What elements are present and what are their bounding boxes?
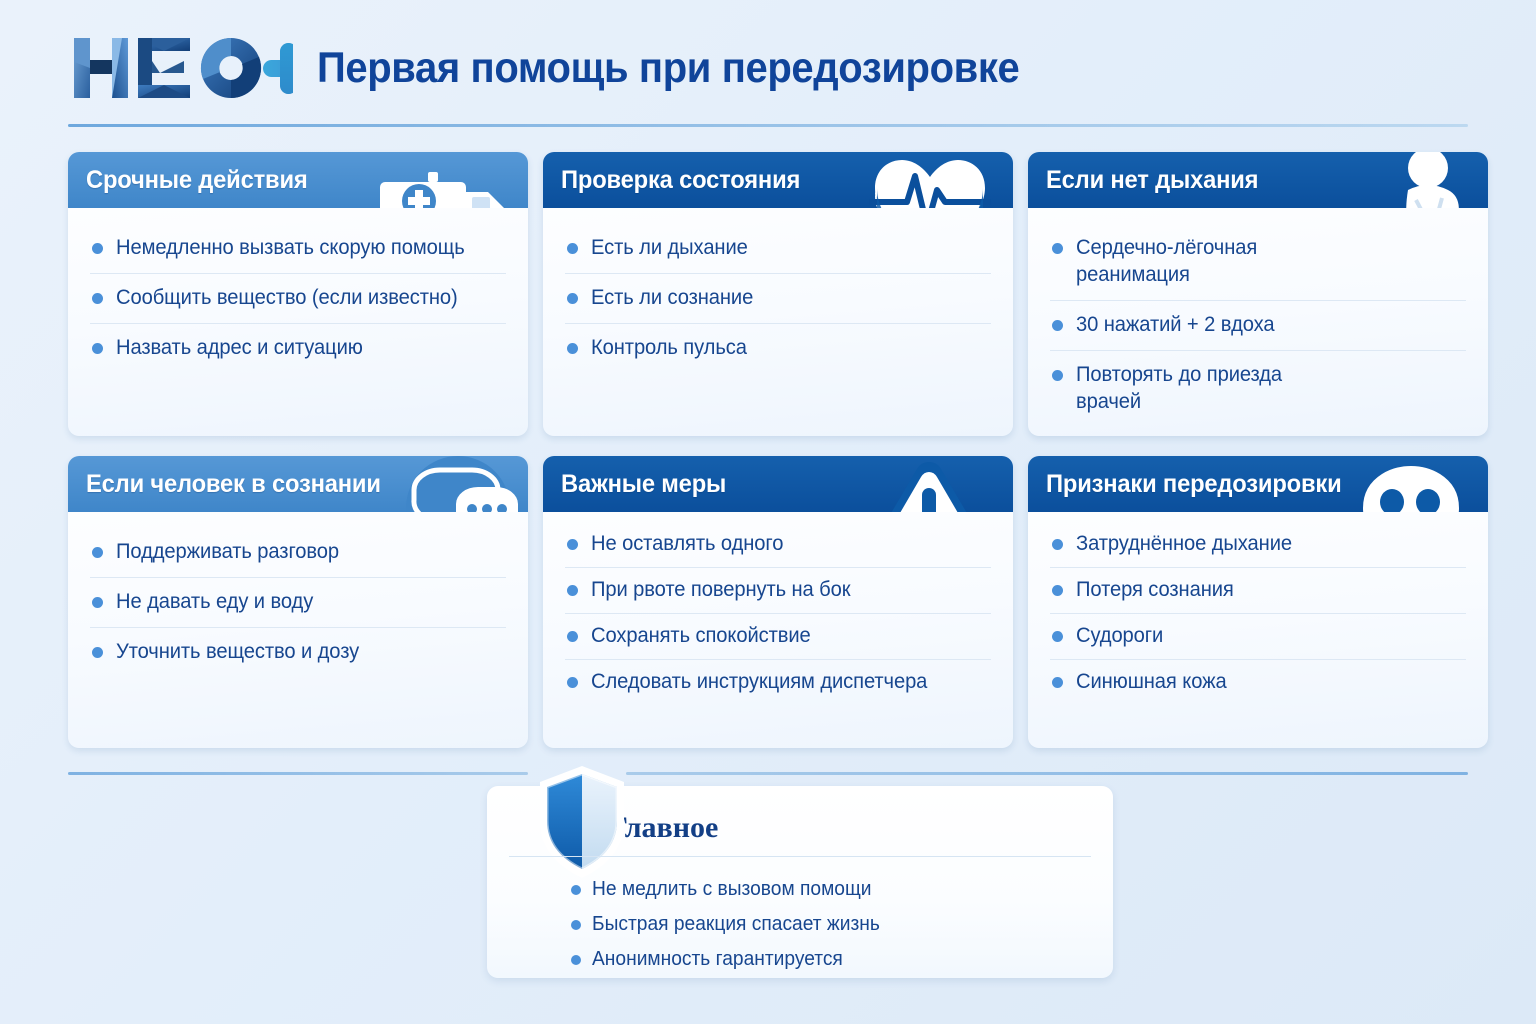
list-item-label: Судороги [1076,623,1163,650]
list-item[interactable]: При рвоте повернуть на бок [565,567,991,613]
list-item[interactable]: Повторять до приезда врачей [1050,350,1466,427]
card-header: Проверка состояния [543,152,1013,208]
list-item-label: Сердечно-лёгочная реанимация [1076,235,1316,289]
list-item-label: При рвоте повернуть на бок [591,577,850,604]
card-body: Сердечно-лёгочная реанимация 30 нажатий … [1028,208,1488,436]
shield-icon [532,762,632,882]
list-item-label: Немедленно вызвать скорую помощь [116,235,465,262]
card-title: Важные меры [561,470,726,499]
list-item-label: Сообщить вещество (если известно) [116,285,458,312]
bullet-dot [1052,243,1063,254]
bullet-dot [1052,585,1063,596]
cpr-icon [1316,152,1486,208]
list-item[interactable]: Контроль пульса [565,323,991,373]
bullet-dot [1052,631,1063,642]
bullet-dot [567,293,578,304]
list-item-label: Есть ли дыхание [591,235,748,262]
list-item-label: Следовать инструкциям диспетчера [591,669,927,696]
footer-panel[interactable]: Главное Не медлить с вызовом помощи Быст… [487,786,1113,978]
card-header: Срочные действия [68,152,528,208]
card-body: Немедленно вызвать скорую помощь Сообщит… [68,208,528,383]
neo-plus-logo-icon [68,32,293,104]
infographic-page: Первая помощь при передозировке Срочные … [0,0,1536,1024]
list-item[interactable]: Есть ли дыхание [565,224,991,273]
list-item-label: Синюшная кожа [1076,669,1227,696]
list-item-label: Назвать адрес и ситуацию [116,335,363,362]
bullet-dot [1052,370,1063,381]
ambulance-icon [362,156,522,208]
list-item-label: Не медлить с вызовом помощи [592,878,871,901]
list-item-label: Анонимность гарантируется [592,948,843,971]
list-item[interactable]: Не давать еду и воду [90,577,506,627]
card-body: Есть ли дыхание Есть ли сознание Контрол… [543,208,1013,383]
card-important-measures[interactable]: Важные меры Не оставлять одного [543,456,1013,748]
bullet-dot [92,597,103,608]
list-item-label: Не давать еду и воду [116,589,313,616]
card-state-check[interactable]: Проверка состояния Есть ли дыхание [543,152,1013,436]
cards-grid: Срочные действия [68,152,1468,748]
card-title: Срочные действия [86,166,308,195]
page-header: Первая помощь при передозировке [68,22,1468,114]
list-item[interactable]: 30 нажатий + 2 вдоха [1050,300,1466,350]
card-body: Поддерживать разговор Не давать еду и во… [68,512,528,687]
card-body: Не оставлять одного При рвоте повернуть … [543,512,1013,715]
bullet-dot [567,677,578,688]
list-item-label: 30 нажатий + 2 вдоха [1076,312,1275,339]
card-header: Если нет дыхания [1028,152,1488,208]
heart-pulse-icon [869,154,991,208]
warning-triangle-icon [871,456,987,512]
bullet-dot [567,343,578,354]
card-title: Проверка состояния [561,166,800,195]
card-urgent-actions[interactable]: Срочные действия [68,152,528,436]
bullet-dot [92,647,103,658]
skull-crossbones-icon [1352,456,1470,512]
bullet-dot [567,631,578,642]
card-no-breathing[interactable]: Если нет дыхания [1028,152,1488,436]
card-title: Если человек в сознании [86,470,381,499]
list-item[interactable]: Не оставлять одного [565,522,991,567]
list-item[interactable]: Сердечно-лёгочная реанимация [1050,224,1466,300]
bullet-dot [92,243,103,254]
bullet-dot [567,585,578,596]
bullet-dot [567,539,578,550]
list-item-label: Сохранять спокойствие [591,623,811,650]
bullet-dot [571,920,581,930]
list-item-label: Быстрая реакция спасает жизнь [592,913,880,936]
footer-divider-left [68,772,528,775]
card-title: Признаки передозировки [1046,470,1341,499]
list-item[interactable]: Уточнить вещество и дозу [90,627,506,677]
footer-title-divider [509,856,1091,857]
list-item[interactable]: Затруднённое дыхание [1050,522,1466,567]
list-item-label: Контроль пульса [591,335,747,362]
list-item[interactable]: Есть ли сознание [565,273,991,323]
bullet-dot [571,885,581,895]
list-item[interactable]: Сохранять спокойствие [565,613,991,659]
bullet-dot [1052,677,1063,688]
list-item-label: Уточнить вещество и дозу [116,639,359,666]
bullet-dot [92,547,103,558]
list-item[interactable]: Сообщить вещество (если известно) [90,273,506,323]
list-item[interactable]: Судороги [1050,613,1466,659]
bullet-dot [1052,539,1063,550]
bullet-dot [1052,320,1063,331]
list-item[interactable]: Не медлить с вызовом помощи [571,872,892,907]
list-item[interactable]: Поддерживать разговор [90,528,506,577]
list-item[interactable]: Быстрая реакция спасает жизнь [571,907,892,942]
footer-divider-right [626,772,1468,775]
list-item-label: Затруднённое дыхание [1076,531,1292,558]
card-overdose-signs[interactable]: Признаки передозировки [1028,456,1488,748]
list-item[interactable]: Немедленно вызвать скорую помощь [90,224,506,273]
list-item-label: Есть ли сознание [591,285,753,312]
bullet-dot [567,243,578,254]
bullet-dot [92,293,103,304]
list-item[interactable]: Потеря сознания [1050,567,1466,613]
header-divider [68,124,1468,127]
card-header: Если человек в сознании [68,456,528,512]
bullet-dot [571,955,581,965]
list-item-label: Не оставлять одного [591,531,783,558]
card-conscious-person[interactable]: Если человек в сознании Поддерживать р [68,456,528,748]
list-item[interactable]: Синюшная кожа [1050,659,1466,705]
bullet-dot [92,343,103,354]
card-header: Признаки передозировки [1028,456,1488,512]
card-body: Затруднённое дыхание Потеря сознания Суд… [1028,512,1488,715]
list-item-label: Потеря сознания [1076,577,1234,604]
list-item[interactable]: Анонимность гарантируется [571,942,892,977]
card-title: Если нет дыхания [1046,166,1258,195]
speech-bubbles-icon [398,456,518,512]
footer-list: Не медлить с вызовом помощи Быстрая реак… [571,872,892,977]
list-item[interactable]: Назвать адрес и ситуацию [90,323,506,373]
card-header: Важные меры [543,456,1013,512]
list-item[interactable]: Следовать инструкциям диспетчера [565,659,991,705]
list-item-label: Повторять до приезда врачей [1076,362,1316,416]
page-title: Первая помощь при передозировке [317,44,1019,93]
list-item-label: Поддерживать разговор [116,539,339,566]
